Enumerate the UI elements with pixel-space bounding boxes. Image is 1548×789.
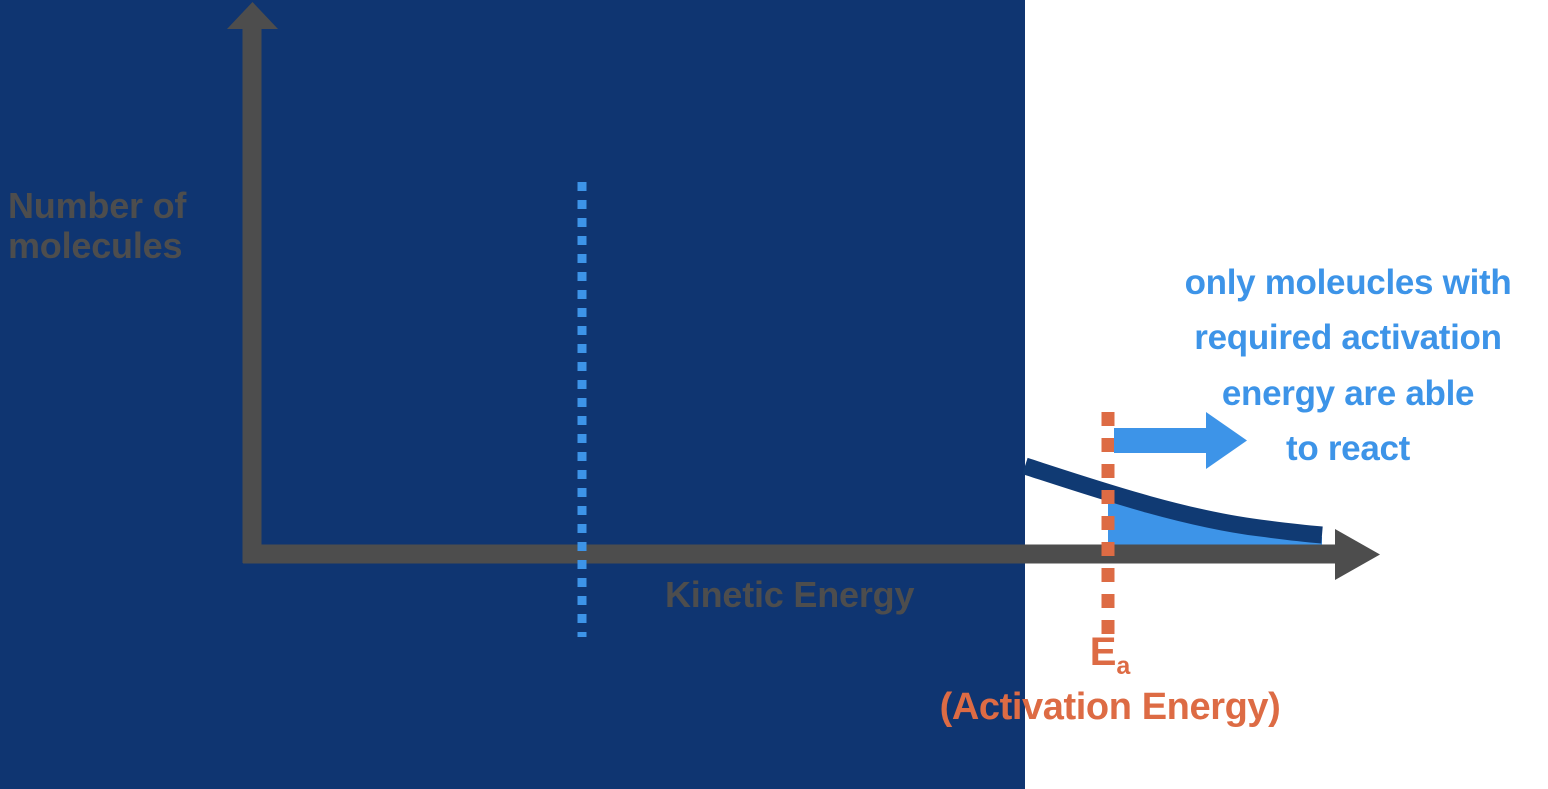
ea-symbol-subscript: a	[1116, 652, 1130, 680]
annotation-line-1: only moleucles with	[1148, 255, 1548, 310]
activation-energy-caption: (Activation Energy)	[880, 686, 1340, 729]
annotation-line-4: to react	[1148, 421, 1548, 476]
annotation-line-3: energy are able	[1148, 366, 1548, 421]
x-axis-label: Kinetic Energy	[665, 575, 914, 615]
x-axis-arrowhead	[1335, 529, 1380, 580]
y-axis-label: Number of molecules	[8, 186, 238, 267]
annotation-line-2: required activation	[1148, 310, 1548, 365]
activation-energy-symbol: Ea	[1060, 630, 1160, 681]
reaction-annotation: only moleucles with required activation …	[1148, 255, 1548, 476]
ea-symbol-letter: E	[1090, 630, 1117, 674]
y-axis-arrowhead	[227, 2, 278, 29]
diagram-canvas: Number of molecules Kinetic Energy only …	[0, 0, 1548, 789]
